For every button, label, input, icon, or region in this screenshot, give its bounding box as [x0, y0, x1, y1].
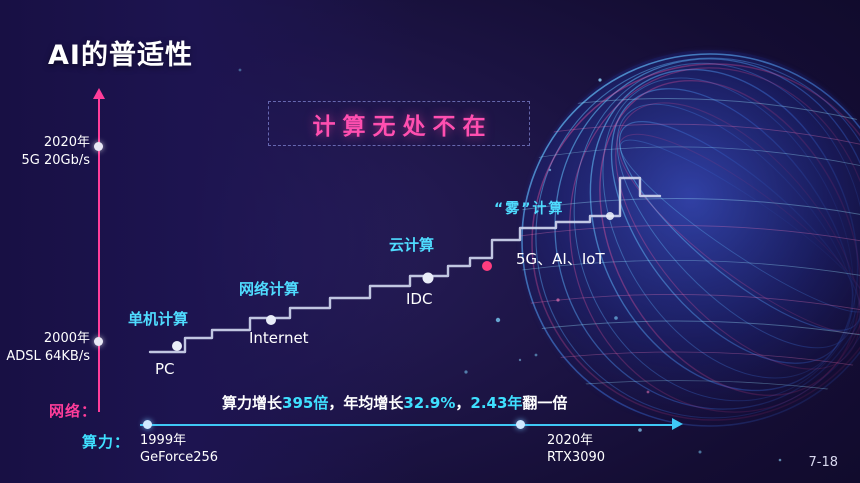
growth-part4: 翻一倍 [522, 394, 567, 412]
step-label-cloud-en: IDC [406, 290, 432, 308]
step-label-network-en: Internet [249, 329, 309, 347]
growth-caption: 算力增长395倍，年均增长32.9%，2.43年翻一倍 [222, 392, 567, 413]
compute-label-1999-line2: GeForce256 [140, 449, 218, 466]
compute-dot-1999 [143, 420, 152, 429]
growth-hi1: 395倍 [282, 394, 328, 412]
horizontal-axis-line [140, 424, 675, 426]
growth-hi2: 32.9% [403, 394, 455, 412]
growth-part2: ，年均增长 [328, 394, 403, 412]
growth-part3: ， [455, 394, 470, 412]
compute-axis-label: 算力： [82, 431, 130, 452]
axis-label-2000-line2: ADSL 64KB/s [6, 348, 90, 366]
page-number: 7-18 [808, 455, 838, 470]
banner-text: 计算无处不在 [306, 107, 493, 141]
network-axis-label: 网络： [49, 400, 97, 421]
axis-dot-2000 [94, 337, 103, 346]
growth-hi3: 2.43年 [470, 394, 522, 412]
step-label-fog-zh: “雾”计算 [494, 198, 564, 218]
growth-part1: 算力增长 [222, 394, 282, 412]
compute-label-2020-line1: 2020年 [547, 432, 605, 449]
axis-label-2020-line1: 2020年 [22, 134, 91, 152]
axis-label-2000-line1: 2000年 [6, 330, 90, 348]
step-label-fog-en: 5G、AI、IoT [516, 248, 605, 269]
axis-label-2020: 2020年 5G 20Gb/s [22, 134, 91, 170]
slide-canvas: AI的普适性 计算无处不在 2020年 5G 20Gb/s 2000年 ADSL… [0, 0, 860, 483]
banner-box: 计算无处不在 [268, 101, 530, 146]
horizontal-axis-arrow-icon [672, 418, 683, 430]
step-label-pc-en: PC [155, 360, 175, 378]
compute-label-2020-line2: RTX3090 [547, 449, 605, 466]
step-label-cloud-zh: 云计算 [389, 234, 434, 255]
page-title: AI的普适性 [48, 33, 193, 72]
compute-label-1999-line1: 1999年 [140, 432, 218, 449]
axis-label-2000: 2000年 ADSL 64KB/s [6, 330, 90, 366]
axis-label-2020-line2: 5G 20Gb/s [22, 152, 91, 170]
axis-dot-2020 [94, 142, 103, 151]
step-label-pc-zh: 单机计算 [128, 308, 188, 329]
compute-dot-2020 [516, 420, 525, 429]
step-label-network-zh: 网络计算 [239, 278, 299, 299]
compute-label-1999: 1999年 GeForce256 [140, 432, 218, 466]
compute-label-2020: 2020年 RTX3090 [547, 432, 605, 466]
